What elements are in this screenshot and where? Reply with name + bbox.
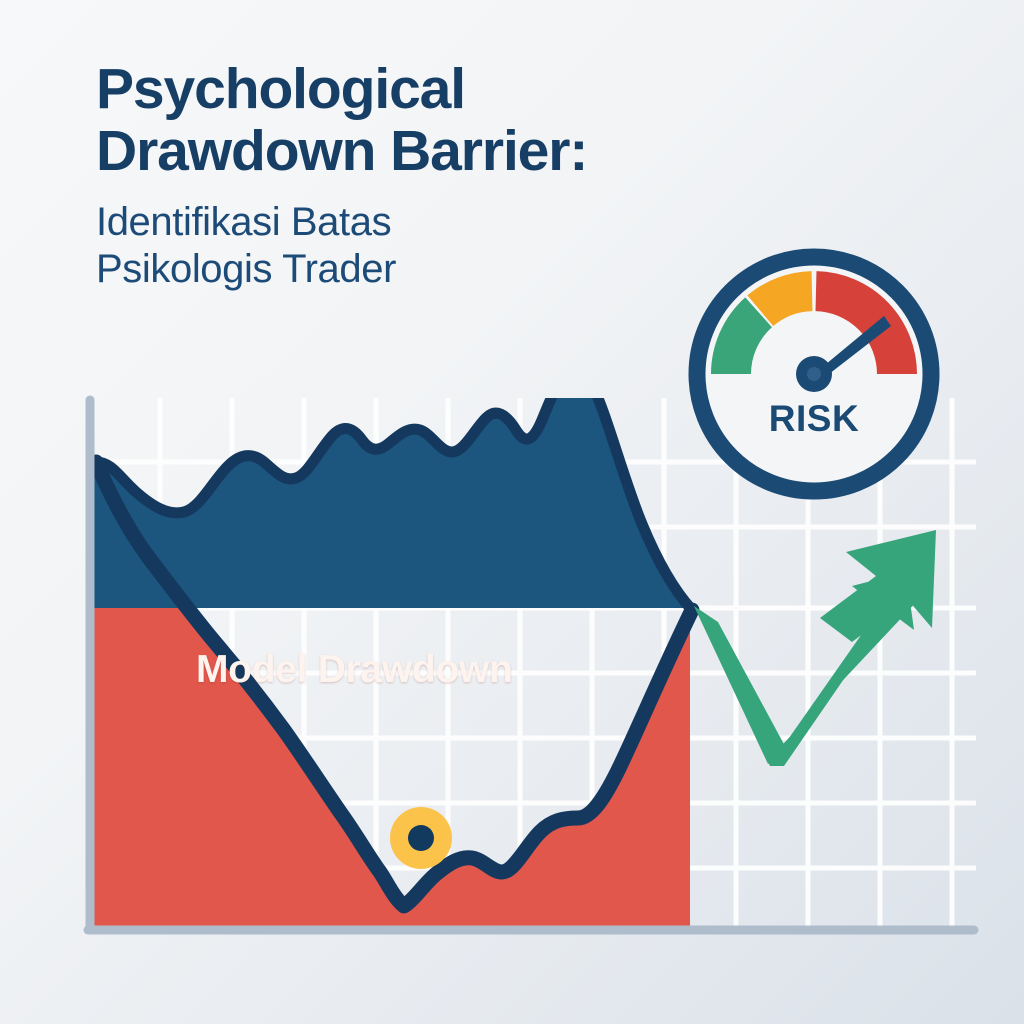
title-line-2: Drawdown Barrier: [96,120,796,182]
page-title: Psychological Drawdown Barrier: [96,58,796,182]
title-line-1: Psychological [96,58,796,120]
risk-gauge-icon [688,248,940,500]
subtitle-line-1: Identifikasi Batas [96,199,796,246]
gauge-risk-label: RISK [688,398,940,440]
gauge-zone-medium [760,291,812,311]
drawdown-area-label: Model Drawdown [196,648,512,692]
recovery-arrow [694,530,936,766]
poster-canvas: Psychological Drawdown Barrier: Identifi… [0,0,1024,1024]
risk-gauge: RISK [688,248,940,500]
psychological-barrier-marker[interactable] [390,807,452,869]
